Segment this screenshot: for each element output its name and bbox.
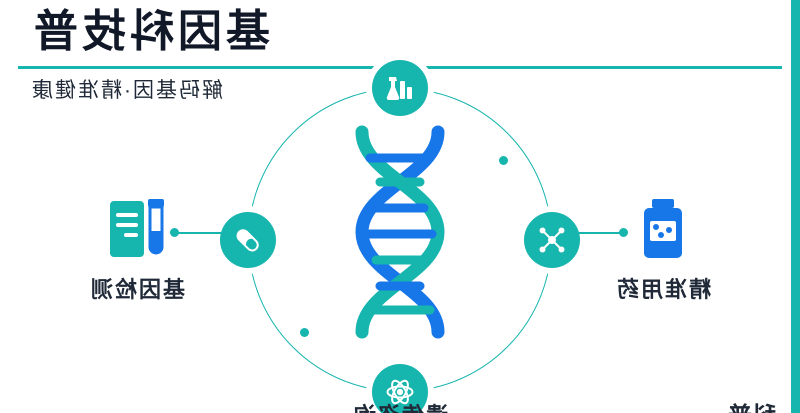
page-subtitle: 解码基因·精准健康 [30, 74, 223, 104]
item-right[interactable]: 基因检测 [62, 196, 212, 304]
ring-dot-top-left [499, 156, 508, 165]
medicine-bottle-icon [588, 196, 738, 262]
diagram-node-right[interactable] [220, 212, 276, 268]
ring-dot-bottom-right [300, 328, 309, 337]
diagram-node-left[interactable] [524, 212, 580, 268]
test-tube-report-icon [62, 196, 212, 262]
circle-diagram [248, 88, 552, 392]
item-left-label: 精准用药 [588, 272, 738, 304]
item-right-label: 基因检测 [62, 272, 212, 304]
item-left[interactable]: 精准用药 [588, 196, 738, 304]
lab-flask-chart-icon [385, 73, 415, 103]
item-bottom-label: 遗传咨询 [325, 398, 475, 413]
molecule-bond-icon [537, 225, 567, 255]
capsule-pill-icon [233, 225, 263, 255]
diagram-node-top[interactable] [372, 60, 428, 116]
slide-canvas: 基因科技普 解码基因·精准健康 [0, 0, 800, 413]
dna-helix-icon [340, 124, 460, 356]
page-title: 基因科技普 [30, 8, 270, 56]
corner-label: 科普 [728, 396, 776, 413]
